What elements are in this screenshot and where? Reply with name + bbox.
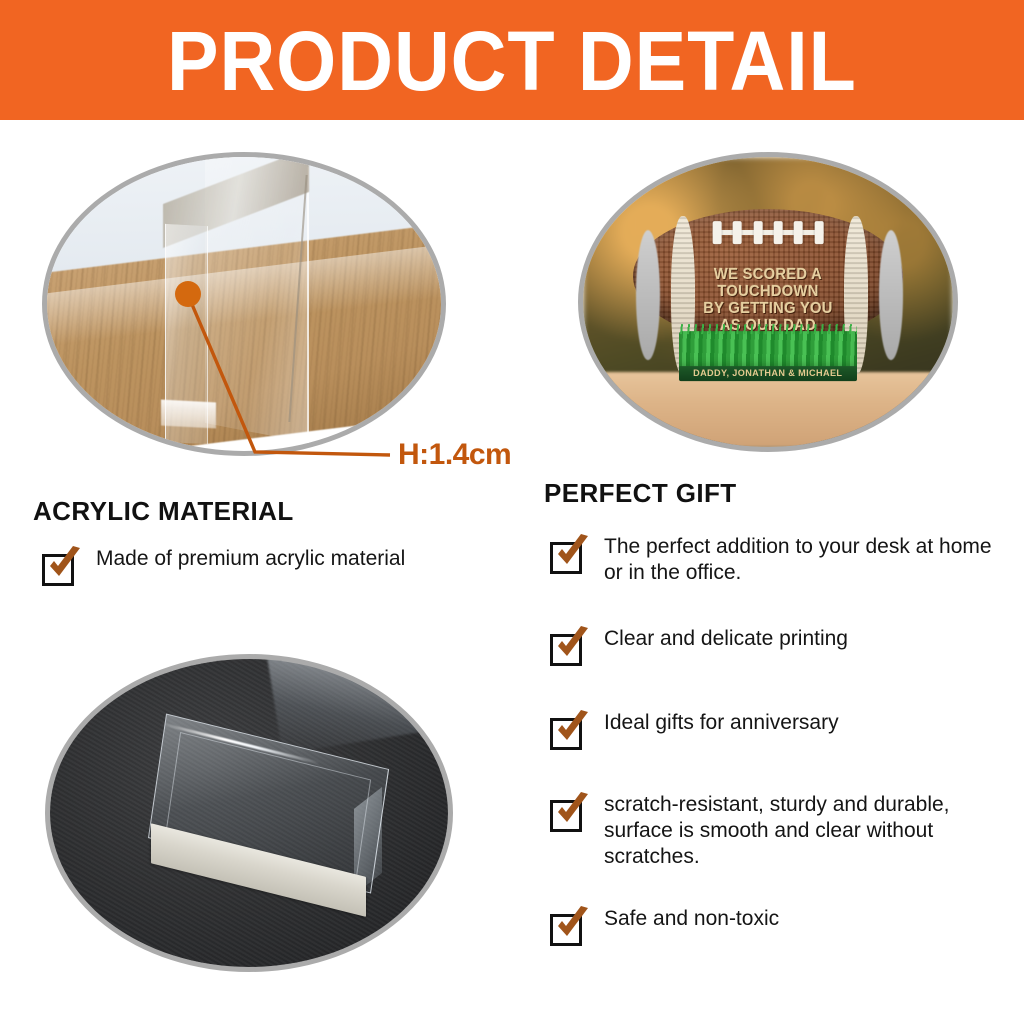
photo-table-surface: [578, 372, 958, 447]
engraved-line-3: BY GETTING YOU: [694, 301, 843, 318]
engraved-line-2: TOUCHDOWN: [694, 284, 843, 301]
lace-stitch: [713, 221, 722, 244]
football-end-cap-right: [879, 230, 903, 361]
check-icon: [552, 534, 592, 574]
feature-row: Made of premium acrylic material: [42, 546, 405, 586]
check-icon: [552, 792, 592, 832]
feature-label: Ideal gifts for anniversary: [604, 710, 839, 736]
lace-stitch: [794, 221, 803, 244]
acrylic-material-heading: ACRYLIC MATERIAL: [33, 496, 294, 527]
feature-label: Clear and delicate printing: [604, 626, 848, 652]
checkbox-checked[interactable]: [550, 712, 588, 750]
header-banner: PRODUCT DETAIL: [0, 0, 1024, 120]
checkbox-checked[interactable]: [42, 548, 80, 586]
nameplate-text: DADDY, JONATHAN & MICHAEL: [693, 368, 842, 379]
feature-row: scratch-resistant, sturdy and durable, s…: [550, 792, 1004, 869]
feature-label: scratch-resistant, sturdy and durable, s…: [604, 792, 1004, 869]
feature-label: Made of premium acrylic material: [96, 546, 405, 572]
football-end-cap-left: [636, 230, 660, 361]
lace-stitch: [774, 221, 783, 244]
feature-row: Clear and delicate printing: [550, 626, 848, 666]
dimension-label: H:1.4cm: [398, 438, 511, 472]
engraved-line-1: WE SCORED A: [694, 268, 843, 285]
checkbox-checked[interactable]: [550, 536, 588, 574]
lace-stitch: [814, 221, 823, 244]
check-icon: [552, 906, 592, 946]
football-laces-icon: [713, 225, 824, 240]
acrylic-edge-on-wood-photo: [42, 152, 446, 456]
check-icon: [552, 710, 592, 750]
acrylic-block-on-slate-photo: [45, 654, 453, 972]
checkbox-checked[interactable]: [550, 628, 588, 666]
football-product-photo: WE SCORED A TOUCHDOWN BY GETTING YOU AS …: [578, 152, 958, 452]
feature-label: The perfect addition to your desk at hom…: [604, 534, 1004, 586]
feature-row: Ideal gifts for anniversary: [550, 710, 839, 750]
football-nameplate: DADDY, JONATHAN & MICHAEL: [679, 367, 857, 382]
feature-label: Safe and non-toxic: [604, 906, 779, 932]
checkbox-checked[interactable]: [550, 794, 588, 832]
feature-row: Safe and non-toxic: [550, 906, 779, 946]
check-icon: [552, 626, 592, 666]
checkbox-checked[interactable]: [550, 908, 588, 946]
football-figure: WE SCORED A TOUCHDOWN BY GETTING YOU AS …: [633, 209, 903, 381]
perfect-gift-heading: PERFECT GIFT: [544, 478, 737, 509]
feature-row: The perfect addition to your desk at hom…: [550, 534, 1004, 586]
lace-stitch: [733, 221, 742, 244]
football-grass-base: [679, 331, 857, 369]
page-title: PRODUCT DETAIL: [167, 19, 857, 103]
lace-stitch: [753, 221, 762, 244]
acrylic-slab-base-highlight: [161, 400, 216, 429]
check-icon: [44, 546, 84, 586]
